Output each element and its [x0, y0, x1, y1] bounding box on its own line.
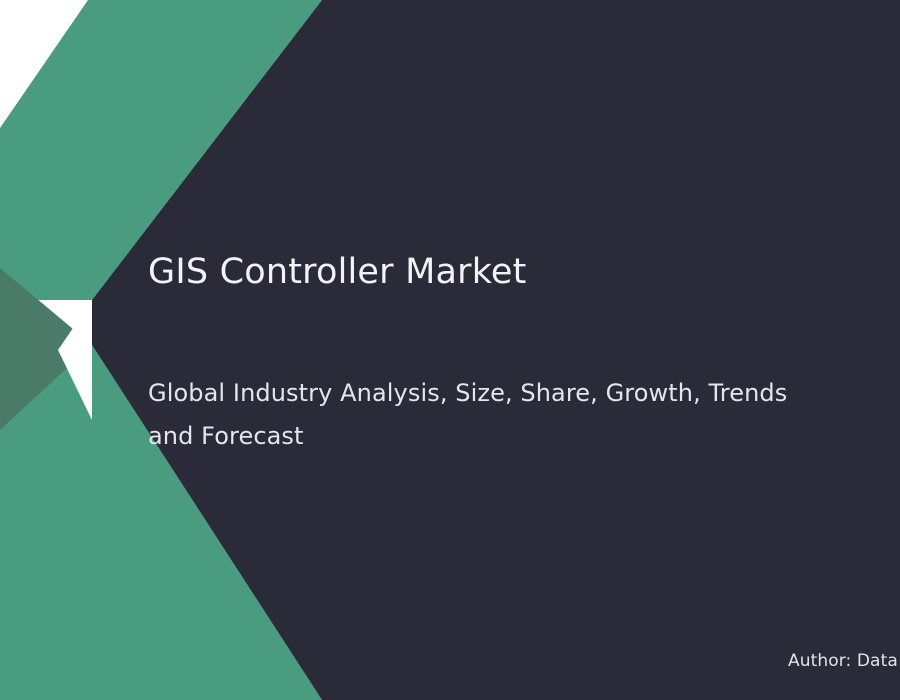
slide-subtitle: Global Industry Analysis, Size, Share, G…	[148, 372, 808, 457]
subtitle-block: Global Industry Analysis, Size, Share, G…	[148, 372, 808, 457]
page-title: GIS Controller Market	[148, 252, 848, 293]
author-label: Author: Data	[788, 651, 898, 671]
title-slide: GIS Controller Market Global Industry An…	[0, 0, 900, 700]
slide-content: GIS Controller Market Global Industry An…	[0, 0, 900, 700]
title-block: GIS Controller Market	[148, 252, 848, 293]
